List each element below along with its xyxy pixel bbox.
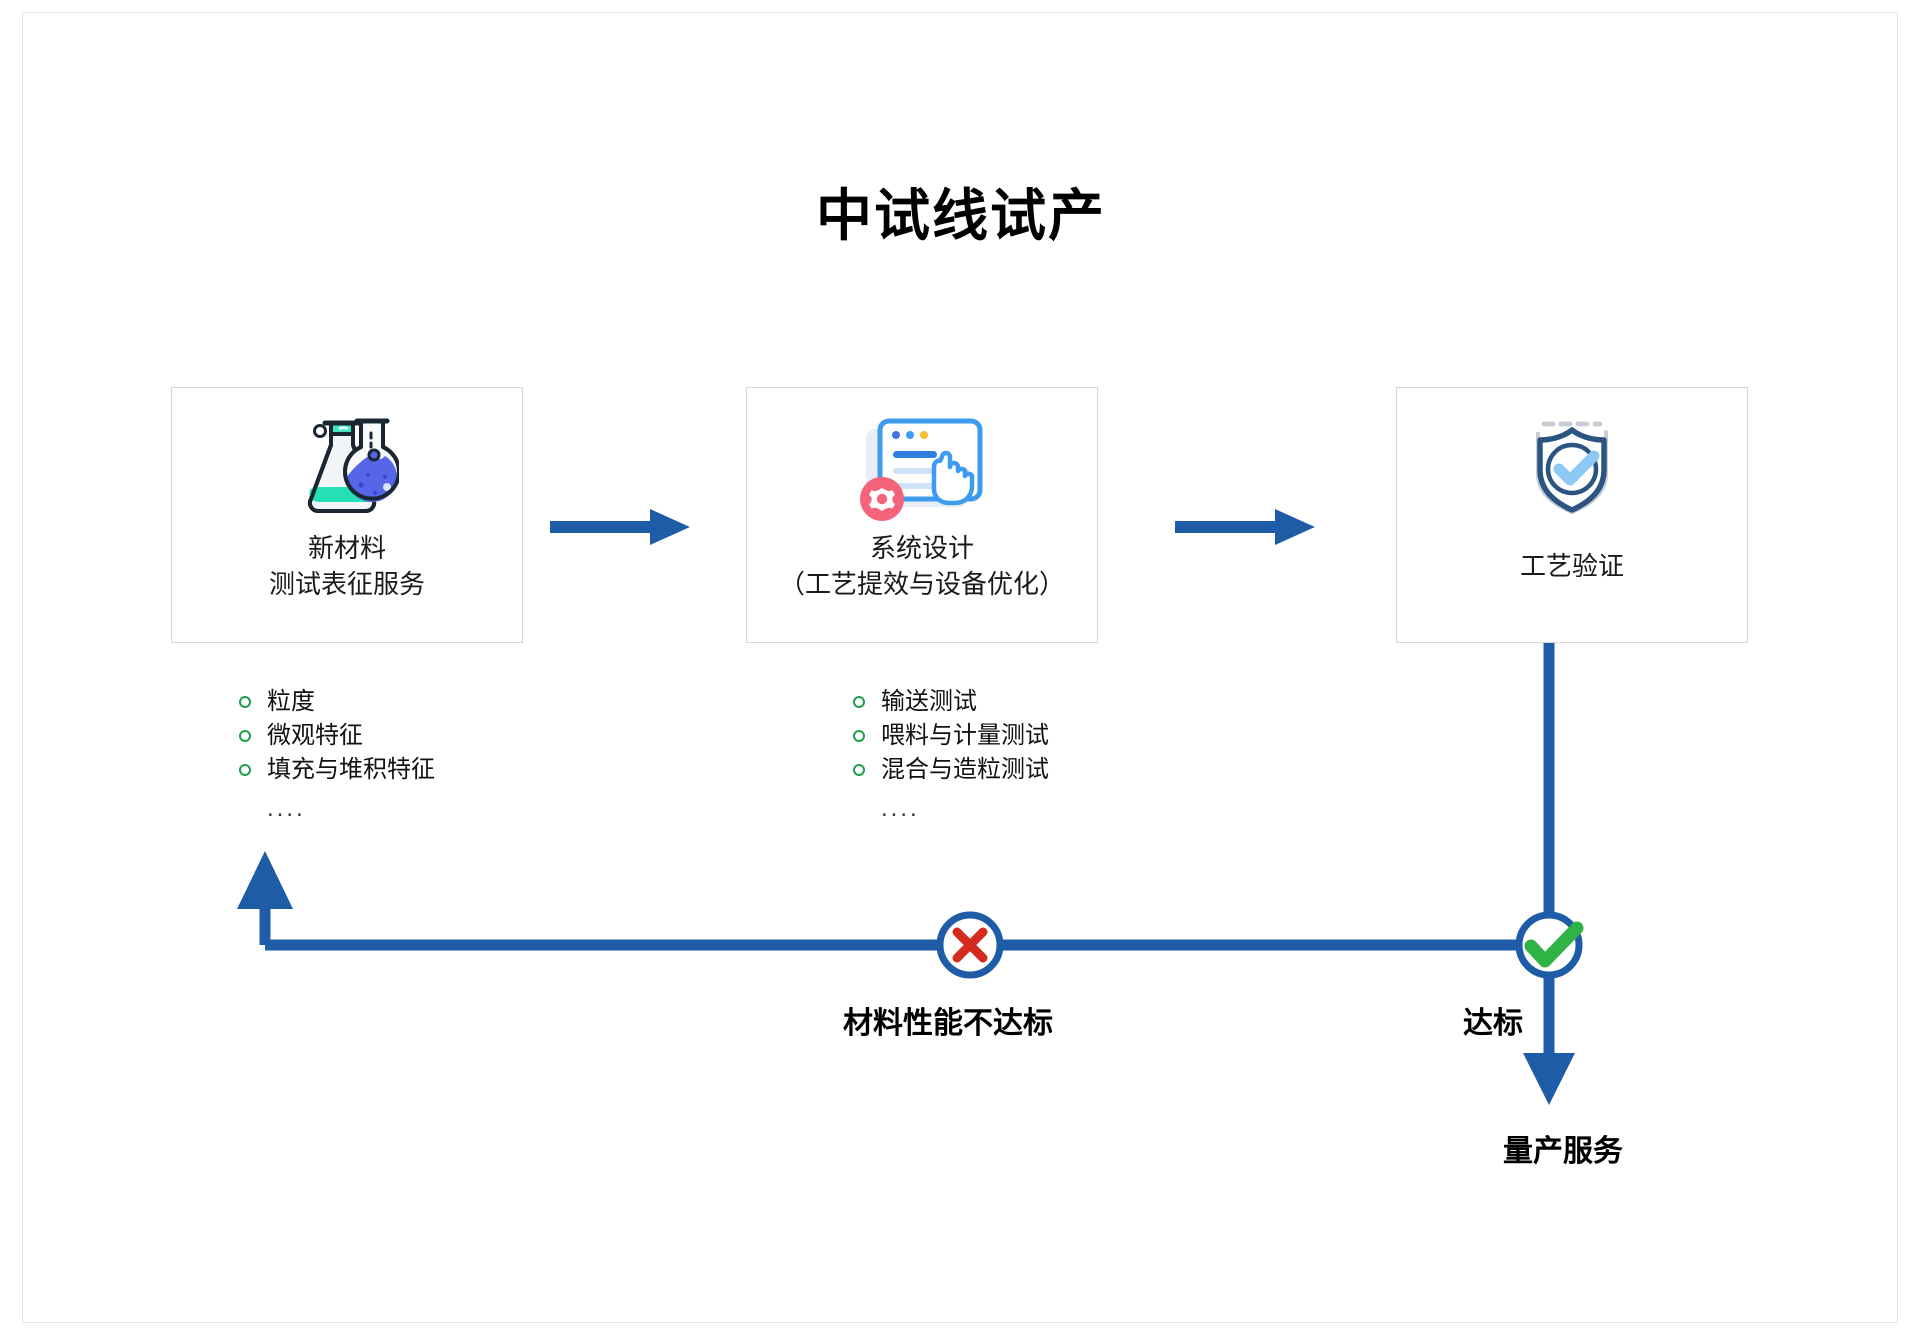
shield-check-icon [1397, 412, 1747, 522]
circle-bullet-icon [853, 730, 865, 742]
list-more-indicator: .... [881, 799, 1049, 819]
pass-branch-label: 达标 [1463, 998, 1523, 1042]
arrow-right-icon [1175, 509, 1315, 545]
bullet-list-new-material: 粒度 微观特征 填充与堆积特征 .... [239, 685, 435, 819]
list-item: 微观特征 [239, 719, 435, 753]
fail-branch-label: 材料性能不达标 [843, 998, 1053, 1042]
list-item: 填充与堆积特征 [239, 753, 435, 787]
list-item-label: 微观特征 [267, 719, 363, 753]
list-item-label: 粒度 [267, 685, 315, 719]
diagram-canvas: 中试线试产 [22, 12, 1898, 1323]
list-more-indicator: .... [267, 799, 435, 819]
list-item-label: 混合与造粒测试 [881, 753, 1049, 787]
diagram-page: 中试线试产 [0, 0, 1920, 1335]
page-title: 中试线试产 [23, 188, 1899, 244]
stage-label: 系统设计 （工艺提效与设备优化） [747, 530, 1097, 602]
list-item-label: 输送测试 [881, 685, 977, 719]
stage-label: 新材料 测试表征服务 [172, 530, 522, 602]
list-item: 混合与造粒测试 [853, 753, 1049, 787]
stage-box-new-material[interactable]: 新材料 测试表征服务 [171, 387, 523, 643]
list-item-label: 填充与堆积特征 [267, 753, 435, 787]
stage-label: 工艺验证 [1397, 548, 1747, 584]
stage-box-system-design[interactable]: 系统设计 （工艺提效与设备优化） [746, 387, 1098, 643]
circle-bullet-icon [853, 696, 865, 708]
arrow-right-icon [550, 509, 690, 545]
list-item-label: 喂料与计量测试 [881, 719, 1049, 753]
list-item: 喂料与计量测试 [853, 719, 1049, 753]
list-item: 粒度 [239, 685, 435, 719]
window-cursor-gear-icon [747, 412, 1097, 522]
circle-bullet-icon [853, 764, 865, 776]
output-label: 量产服务 [1503, 1126, 1623, 1170]
flask-icon [172, 412, 522, 522]
circle-bullet-icon [239, 730, 251, 742]
stage-box-process-validation[interactable]: 工艺验证 [1396, 387, 1748, 643]
circle-bullet-icon [239, 764, 251, 776]
bullet-list-system-design: 输送测试 喂料与计量测试 混合与造粒测试 .... [853, 685, 1049, 819]
list-item: 输送测试 [853, 685, 1049, 719]
circle-bullet-icon [239, 696, 251, 708]
